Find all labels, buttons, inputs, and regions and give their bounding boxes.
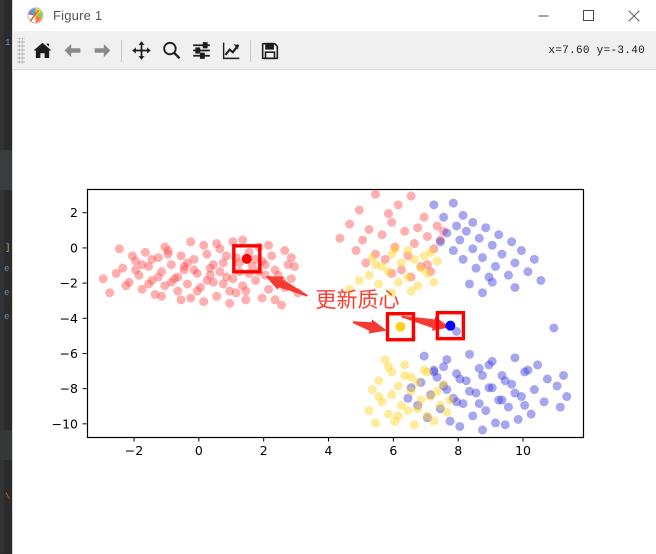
minimize-button[interactable]: [521, 0, 566, 31]
x-tick-label: 10: [515, 443, 531, 458]
window-titlebar[interactable]: Figure 1: [13, 0, 656, 32]
subplots-button[interactable]: [186, 36, 216, 66]
x-tick-label: 2: [260, 443, 268, 458]
y-tick-label: −4: [60, 311, 78, 326]
forward-button[interactable]: [87, 36, 117, 66]
x-tick-label: 6: [389, 443, 397, 458]
home-button[interactable]: [27, 36, 57, 66]
centroid-yellow: [395, 322, 405, 332]
y-tick-label: 2: [70, 205, 78, 220]
figure-window: Figure 1: [13, 0, 656, 553]
toolbar-separator: [250, 40, 251, 62]
y-tick-label: −6: [60, 346, 78, 361]
zoom-button[interactable]: [156, 36, 186, 66]
ide-highlight-band: [0, 430, 13, 460]
x-tick-label: −2: [125, 443, 143, 458]
navigation-toolbar: x=7.60 y=-3.40: [13, 32, 656, 70]
ide-text-fragment: e: [4, 264, 9, 274]
y-tick-label: 0: [70, 240, 78, 255]
y-tick-label: −8: [60, 381, 78, 396]
matplotlib-logo-icon: [27, 7, 44, 24]
save-button[interactable]: [255, 36, 285, 66]
toolbar-drag-handle[interactable]: [17, 38, 25, 64]
axis-edit-button[interactable]: [216, 36, 246, 66]
window-title: Figure 1: [53, 8, 102, 23]
ide-text-fragment: e: [4, 312, 9, 322]
back-button[interactable]: [57, 36, 87, 66]
centroid-red: [242, 254, 252, 264]
ide-text-fragment: ]: [5, 243, 10, 253]
scatter-plot: −2024681020−2−4−6−8−10 更新质心: [13, 70, 656, 554]
ide-text-fragment: \: [5, 492, 10, 502]
toolbar-separator: [121, 40, 122, 62]
ide-text-fragment: e: [4, 288, 9, 298]
background-ide-window: 1 ] e e e \: [0, 0, 13, 553]
y-tick-label: −2: [60, 276, 78, 291]
annotation-update-centroid: 更新质心: [316, 288, 400, 312]
window-controls: [521, 0, 656, 31]
figure-canvas[interactable]: −2024681020−2−4−6−8−10 更新质心: [13, 70, 656, 554]
x-tick-label: 0: [195, 443, 203, 458]
ide-gutter: [0, 0, 4, 553]
pan-button[interactable]: [126, 36, 156, 66]
close-button[interactable]: [611, 0, 656, 31]
data-points-layer: [87, 189, 583, 437]
ide-highlight-band: [0, 150, 13, 190]
maximize-button[interactable]: [566, 0, 611, 31]
ide-text-fragment: 1: [5, 38, 10, 48]
x-tick-label: 8: [454, 443, 462, 458]
centroid-blue: [445, 321, 455, 331]
coordinate-readout: x=7.60 y=-3.40: [548, 32, 645, 69]
x-tick-label: 4: [325, 443, 333, 458]
y-tick-label: −10: [52, 416, 78, 431]
